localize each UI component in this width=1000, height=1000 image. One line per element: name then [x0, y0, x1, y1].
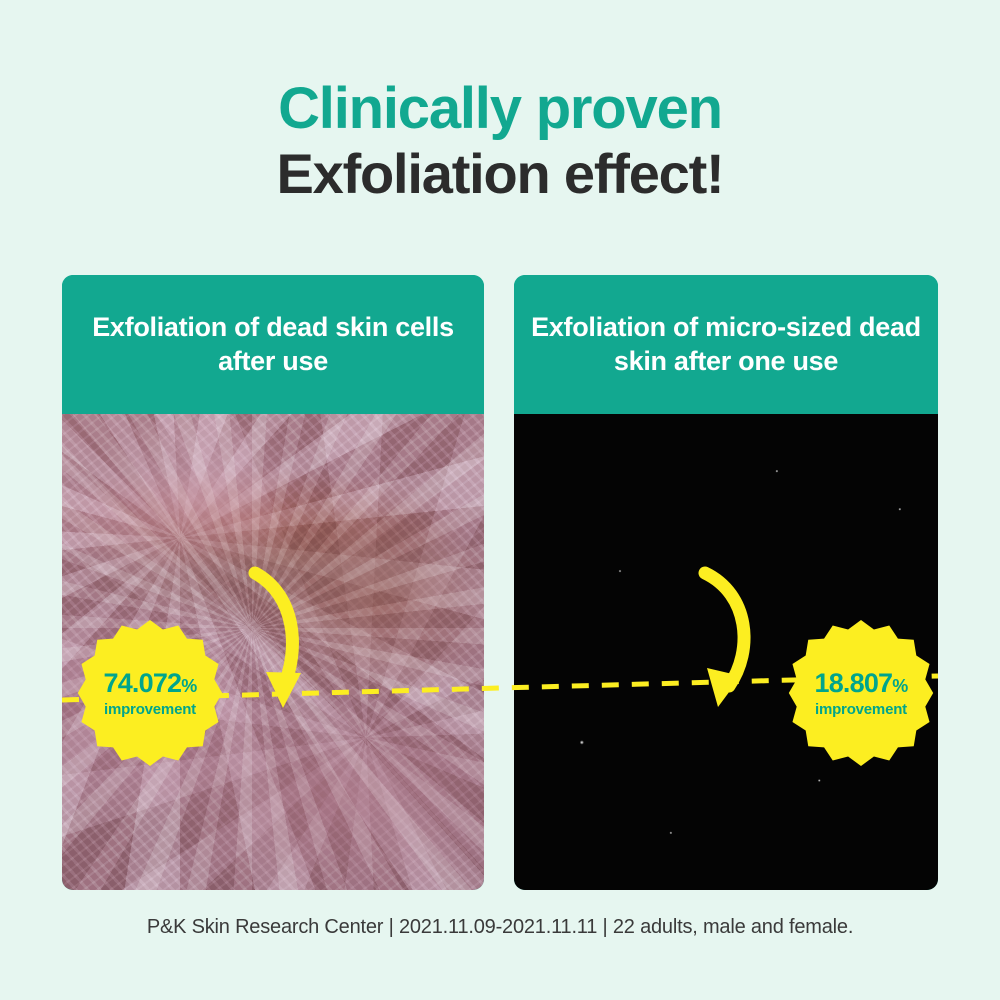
badge-left-text: 74.072% improvement — [103, 670, 196, 717]
badge-right-caption: improvement — [814, 702, 907, 717]
badge-left-value: 74.072 — [103, 668, 181, 698]
improvement-badge-right: 18.807% improvement — [785, 617, 937, 769]
badge-left-percent-symbol: % — [181, 676, 196, 696]
card-left-header-text: Exfoliation of dead skin cells after use — [72, 311, 474, 379]
card-right-header-text: Exfoliation of micro-sized dead skin aft… — [524, 311, 928, 379]
improvement-badge-left: 74.072% improvement — [74, 617, 226, 769]
study-footnote: P&K Skin Research Center | 2021.11.09-20… — [0, 916, 1000, 939]
page-title-line-1: Clinically proven — [0, 78, 1000, 141]
badge-left-percentage: 74.072% — [103, 670, 196, 697]
badge-right-percentage: 18.807% — [814, 670, 907, 697]
badge-right-text: 18.807% improvement — [814, 670, 907, 717]
badge-left-caption: improvement — [103, 702, 196, 717]
page-title-line-2: Exfoliation effect! — [0, 141, 1000, 207]
card-left-header: Exfoliation of dead skin cells after use — [62, 275, 484, 414]
result-card-left: Exfoliation of dead skin cells after use — [62, 275, 484, 890]
page-title: Clinically proven Exfoliation effect! — [0, 78, 1000, 207]
card-right-header: Exfoliation of micro-sized dead skin aft… — [514, 275, 938, 414]
badge-right-percent-symbol: % — [892, 676, 907, 696]
result-card-right: Exfoliation of micro-sized dead skin aft… — [514, 275, 938, 890]
badge-right-value: 18.807 — [814, 668, 892, 698]
